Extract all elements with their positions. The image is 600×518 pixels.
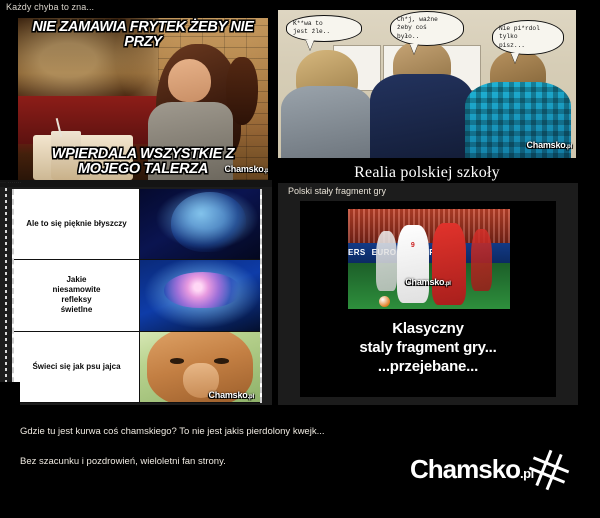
chamsko-logo[interactable]: Chamsko.pl	[410, 455, 580, 495]
brain-row-text: Jakie niesamowite refleksy świetlne	[14, 260, 140, 330]
brand-wordmark: Chamsko.pl	[410, 455, 534, 488]
student-left	[280, 50, 374, 158]
background-player-red	[471, 229, 492, 291]
meme-image-realia-polskiej-szkoly[interactable]: K**wa to jest źle.. Ch*j, ważne żeby coś…	[272, 8, 582, 186]
message-line-1: Gdzie tu jest kurwa coś chamskiego? To n…	[20, 425, 440, 438]
brain-row: Ale to się pięknie błyszczy	[14, 189, 260, 260]
screenshot-canvas: Każdy chyba to zna... NIE ZAMAWIA FRYTEK…	[0, 0, 600, 518]
speech-bubble-left: K**wa to jest źle..	[286, 15, 362, 42]
user-message: Gdzie tu jest kurwa coś chamskiego? To n…	[20, 425, 440, 468]
watermark-word: Chamsko	[526, 140, 565, 150]
panel-header: Polski stały fragment gry	[288, 185, 386, 197]
background-player-white	[376, 231, 397, 291]
meme-caption: Klasyczny staly fragment gry... ...przej…	[300, 319, 556, 377]
message-line-2: Bez szacunku i pozdrowień, wieloletni fa…	[20, 455, 440, 468]
speech-bubble-right: Nie pi*rdol tylko pisz...	[492, 20, 564, 55]
football-photo: ERSEUROQUALIFIERS	[348, 209, 510, 309]
student-body	[370, 74, 474, 158]
chamsko-watermark: Chamsko.pl	[526, 140, 572, 150]
meme-caption: Realia polskiej szkoły	[272, 164, 582, 182]
x-ray-skull-image	[140, 189, 260, 259]
top-caption: Każdy chyba to zna...	[6, 1, 256, 14]
brain-row-text: Ale to się pięknie błyszczy	[14, 189, 140, 259]
meme-image-nie-zamawia-frytek[interactable]: NIE ZAMAWIA FRYTEK ŻEBY NIE PRZY WPIERDA…	[18, 18, 268, 180]
watermark-tld: .pl	[248, 394, 254, 400]
meme-image-staly-fragment-gry[interactable]: ERSEUROQUALIFIERS Chamsko.pl Klasyczny s…	[300, 201, 556, 397]
board-text-left: ERS	[348, 248, 366, 257]
divider-row: ··· ·······	[0, 180, 272, 187]
monkey-eye	[214, 358, 228, 364]
meme-panel-expanding-brain: Ale to się pięknie błyszczy Jakie niesam…	[0, 187, 272, 405]
watermark-word: Chamsko	[208, 390, 247, 400]
meme-panel-staly-fragment-gry: Polski stały fragment gry ERSEUROQUALIFI…	[278, 183, 578, 405]
brain-row-text: Świeci się jak psu jajca	[14, 332, 140, 402]
woman-face	[168, 59, 211, 103]
chamsko-watermark: Chamsko.pl	[208, 390, 254, 400]
brain-row: Jakie niesamowite refleksy świetlne	[14, 260, 260, 331]
school-photo: K**wa to jest źle.. Ch*j, ważne żeby coś…	[278, 10, 576, 158]
football-ball	[379, 296, 390, 307]
chamsko-watermark: Chamsko.pl	[224, 164, 268, 174]
speech-bubble-middle: Ch*j, ważne żeby coś było..	[390, 11, 464, 46]
watermark-word: Chamsko	[224, 164, 263, 174]
student-middle	[370, 40, 474, 158]
meme-image-expanding-brain[interactable]: Ale to się pięknie błyszczy Jakie niesam…	[12, 189, 262, 403]
dotted-rail	[5, 188, 7, 402]
meme-top-text: NIE ZAMAWIA FRYTEK ŻEBY NIE PRZY	[18, 20, 268, 50]
watermark-word: Chamsko	[405, 277, 444, 287]
student-body	[281, 86, 373, 158]
watermark-tld: .pl	[566, 144, 572, 150]
player-denmark	[432, 223, 466, 305]
brand-name: Chamsko	[410, 454, 520, 484]
watermark-tld: .pl	[444, 281, 450, 287]
watermark-tld: .pl	[264, 168, 268, 174]
chamsko-watermark: Chamsko.pl	[405, 277, 451, 287]
monkey-eye	[170, 358, 184, 364]
player-poland	[397, 225, 429, 303]
glowing-brain-image	[140, 260, 260, 330]
corner-notch	[0, 382, 20, 410]
